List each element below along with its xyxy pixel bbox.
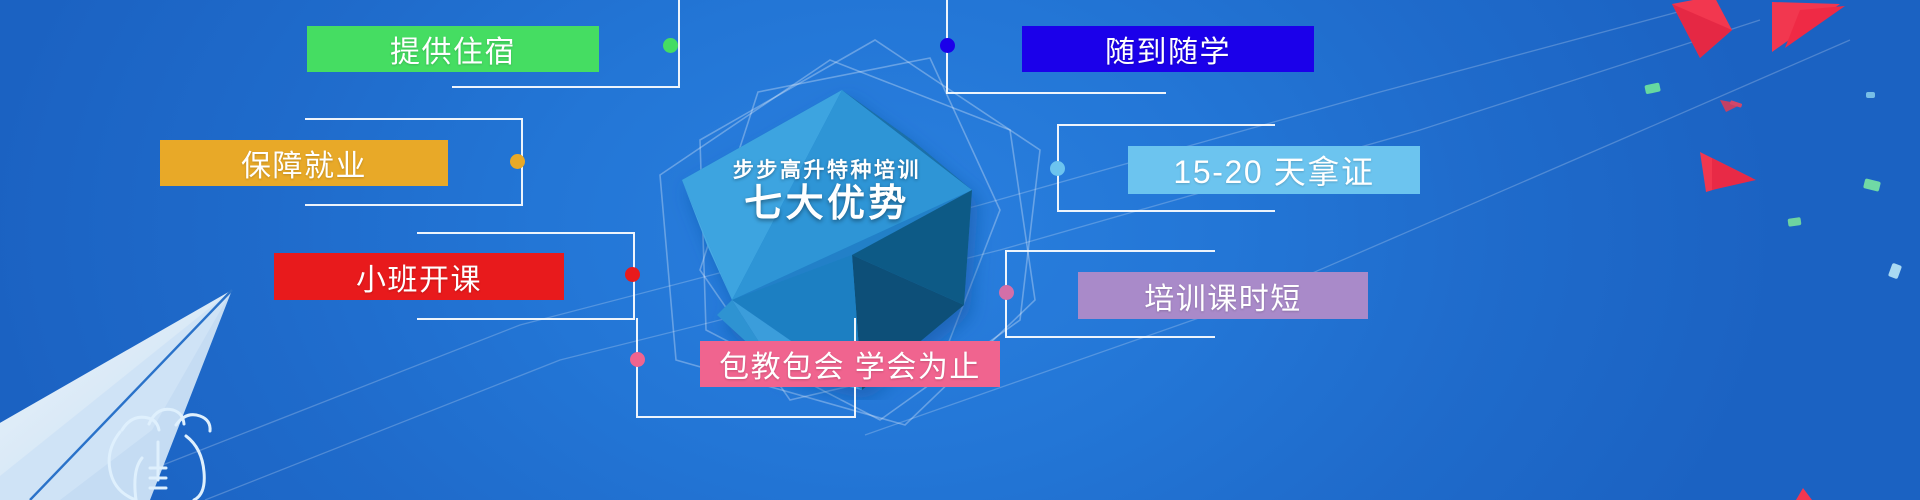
advantage-label-anytime: 随到随学 — [1105, 27, 1231, 71]
advantage-label-certdays: 15-20 天拿证 — [1173, 147, 1374, 193]
dot-certdays — [1050, 161, 1065, 176]
confetti-icon — [1644, 82, 1902, 279]
advantage-label-shortcourse: 培训课时短 — [1144, 274, 1302, 318]
advantage-label-smallclass: 小班开课 — [356, 255, 482, 299]
dot-shortcourse — [999, 285, 1014, 300]
dot-guarantee — [630, 352, 645, 367]
advantage-label-lodging: 提供住宿 — [390, 27, 516, 71]
hand-icon — [109, 409, 210, 500]
dot-employment — [510, 154, 525, 169]
advantage-label-guarantee: 包教包会 学会为止 — [719, 342, 981, 386]
dot-smallclass — [625, 267, 640, 282]
red-ribbon-icon — [1672, 0, 1845, 500]
advantage-chip-anytime[interactable]: 随到随学 — [1022, 26, 1314, 72]
dot-anytime — [940, 38, 955, 53]
advantage-chip-shortcourse[interactable]: 培训课时短 — [1078, 272, 1368, 319]
dot-lodging — [663, 38, 678, 53]
advantage-chip-employment[interactable]: 保障就业 — [160, 140, 448, 186]
promo-banner: 步步高升特种培训 七大优势 提供住宿 随到随学 保障就业 15-20 天拿证 小… — [0, 0, 1920, 500]
advantage-chip-lodging[interactable]: 提供住宿 — [307, 26, 599, 72]
advantage-label-employment: 保障就业 — [241, 141, 367, 185]
advantage-chip-smallclass[interactable]: 小班开课 — [274, 253, 564, 300]
advantage-chip-certdays[interactable]: 15-20 天拿证 — [1128, 146, 1420, 194]
advantage-chip-guarantee[interactable]: 包教包会 学会为止 — [700, 341, 1000, 387]
